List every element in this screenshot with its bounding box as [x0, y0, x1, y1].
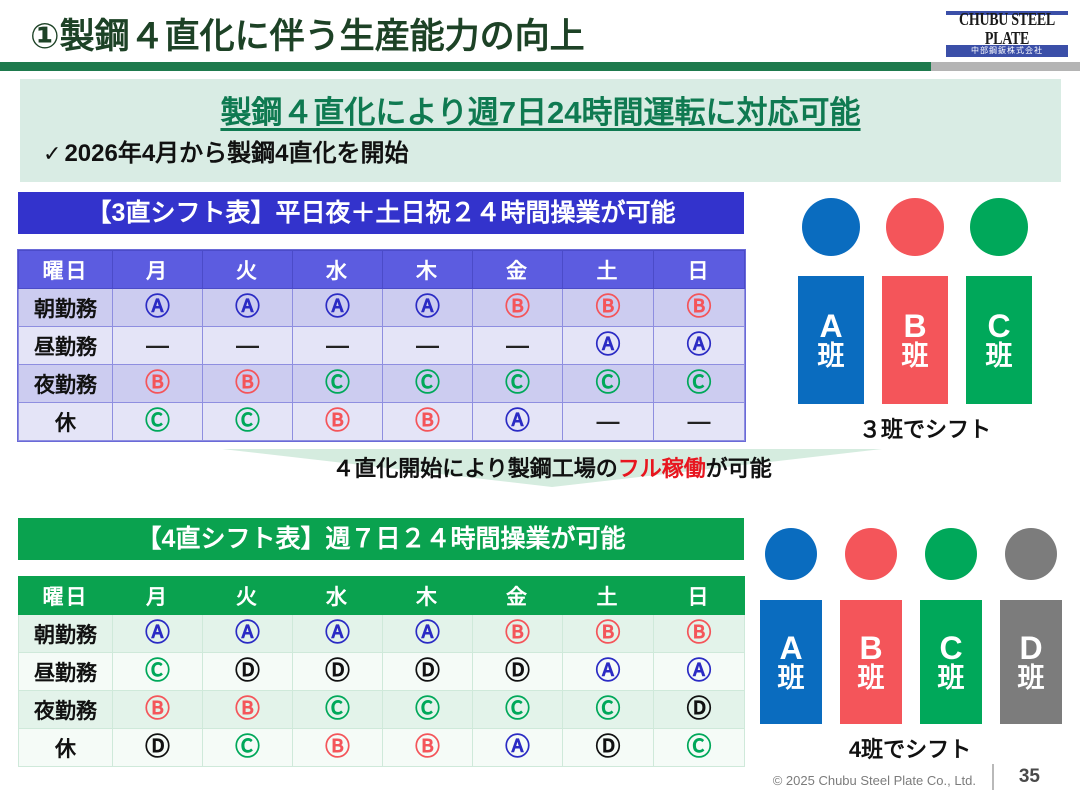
shift-cell: Ⓑ	[473, 289, 563, 327]
shift-marker-A: Ⓐ	[595, 657, 620, 685]
shift-marker-A: Ⓐ	[325, 619, 350, 647]
logo-name: CHUBU STEEL PLATE	[944, 11, 1070, 49]
shift-marker-A: Ⓐ	[505, 407, 530, 435]
shift-marker-B: Ⓑ	[686, 293, 711, 321]
row-label: 休	[19, 729, 113, 767]
shift-cell: Ⓒ	[383, 365, 473, 403]
team-dot-C	[925, 528, 977, 580]
shift-cell: Ⓑ	[654, 289, 745, 327]
chevron-caption: ４直化開始により製鋼工場のフル稼働が可能	[222, 451, 882, 483]
shift-marker-B: Ⓑ	[415, 733, 440, 761]
team-letter: A	[779, 632, 802, 665]
shift-marker-C: Ⓒ	[145, 657, 170, 685]
shift-marker-C: Ⓒ	[145, 407, 170, 435]
shift-marker-B: Ⓑ	[595, 619, 620, 647]
shift-marker-A: Ⓐ	[686, 657, 711, 685]
shift-cell: Ⓓ	[203, 653, 293, 691]
legend-caption: 4班でシフト	[760, 732, 1060, 764]
shift-marker-B: Ⓑ	[505, 619, 530, 647]
shift4-band-title: 【4直シフト表】週７日２４時間操業が可能	[18, 518, 744, 560]
shift-cell: Ⓒ	[473, 691, 563, 729]
shift-marker-C: Ⓒ	[595, 369, 620, 397]
shift-marker-B: Ⓑ	[145, 695, 170, 723]
footer-divider	[992, 764, 994, 790]
shift-cell: Ⓓ	[113, 729, 203, 767]
team-letter: C	[987, 310, 1010, 343]
shift-cell: Ⓐ	[383, 289, 473, 327]
table-row: 朝勤務ⒶⒶⒶⒶⒷⒷⒷ	[19, 289, 745, 327]
shift-cell: —	[113, 327, 203, 365]
footer-copyright: © 2025 Chubu Steel Plate Co., Ltd.	[773, 773, 976, 788]
shift-marker-B: Ⓑ	[325, 407, 350, 435]
check-icon: ✓	[43, 141, 61, 166]
shift-marker-B: Ⓑ	[325, 733, 350, 761]
shift-cell: —	[203, 327, 293, 365]
row-label: 休	[19, 403, 113, 441]
banner-headline: 製鋼４直化により週7日24時間運転に対応可能	[20, 87, 1061, 132]
shift-cell: Ⓒ	[383, 691, 473, 729]
shift-marker-C: Ⓒ	[325, 695, 350, 723]
banner-subtext-label: 2026年4月から製鋼4直化を開始	[64, 140, 408, 167]
team-unit-label: 班	[938, 665, 965, 693]
column-header-day-6: 土	[563, 577, 654, 615]
row-label: 朝勤務	[19, 615, 113, 653]
column-header-weekday: 曜日	[19, 577, 113, 615]
column-header-day-5: 金	[473, 251, 563, 289]
shift-cell: Ⓑ	[473, 615, 563, 653]
shift-marker-C: Ⓒ	[505, 369, 530, 397]
shift-marker-C: Ⓒ	[505, 695, 530, 723]
shift-cell: Ⓒ	[293, 691, 383, 729]
shift-marker-B: Ⓑ	[235, 695, 260, 723]
shift-cell: Ⓒ	[563, 365, 654, 403]
column-header-weekday: 曜日	[19, 251, 113, 289]
shift-cell: Ⓐ	[654, 327, 745, 365]
table-row: 休ⒹⒸⒷⒷⒶⒹⒸ	[19, 729, 745, 767]
shift-marker-A: Ⓐ	[325, 293, 350, 321]
shift-marker-C: Ⓒ	[595, 695, 620, 723]
shift-empty-marker: —	[506, 332, 529, 358]
shift-cell: Ⓑ	[383, 729, 473, 767]
page-title: ①製鋼４直化に伴う生産能力の向上	[30, 8, 585, 59]
shift-cell: Ⓒ	[654, 729, 745, 767]
shift-marker-D: Ⓓ	[686, 695, 711, 723]
shift-empty-marker: —	[688, 408, 711, 434]
shift-marker-D: Ⓓ	[145, 733, 170, 761]
banner-subtext: ✓2026年4月から製鋼4直化を開始	[43, 133, 409, 168]
shift-marker-A: Ⓐ	[415, 293, 440, 321]
team-unit-label: 班	[902, 343, 929, 371]
shift-cell: Ⓓ	[563, 729, 654, 767]
title-divider-green	[0, 62, 931, 71]
shift4-team-legend: A班B班C班D班4班でシフト	[760, 528, 1060, 764]
shift-cell: Ⓓ	[293, 653, 383, 691]
shift-cell: Ⓐ	[293, 289, 383, 327]
shift-cell: Ⓓ	[383, 653, 473, 691]
team-dot-D	[1005, 528, 1057, 580]
chevron-text-before: ４直化開始により製鋼工場の	[332, 456, 618, 481]
team-block-D: D班	[1000, 600, 1062, 724]
column-header-day-2: 火	[203, 251, 293, 289]
team-dot-A	[802, 198, 860, 256]
team-letter: D	[1019, 632, 1042, 665]
team-unit-label: 班	[778, 665, 805, 693]
shift-empty-marker: —	[146, 332, 169, 358]
table-row: 休ⒸⒸⒷⒷⒶ——	[19, 403, 745, 441]
shift3-band-title: 【3直シフト表】平日夜＋土日祝２４時間操業が可能	[18, 192, 744, 234]
shift-cell: Ⓐ	[654, 653, 745, 691]
team-block-B: B班	[840, 600, 902, 724]
team-letter: C	[939, 632, 962, 665]
shift-marker-B: Ⓑ	[415, 407, 440, 435]
team-letter: B	[903, 310, 926, 343]
shift-cell: —	[473, 327, 563, 365]
table-header-row: 曜日月火水木金土日	[19, 251, 745, 289]
table-row: 夜勤務ⒷⒷⒸⒸⒸⒸⒸ	[19, 365, 745, 403]
shift-marker-C: Ⓒ	[686, 733, 711, 761]
team-block-A: A班	[760, 600, 822, 724]
shift-cell: Ⓑ	[654, 615, 745, 653]
shift-cell: Ⓑ	[563, 615, 654, 653]
shift-marker-A: Ⓐ	[145, 293, 170, 321]
shift-marker-A: Ⓐ	[505, 733, 530, 761]
shift-cell: Ⓒ	[293, 365, 383, 403]
company-logo: CHUBU STEEL PLATE 中部鋼鈑株式会社	[944, 11, 1070, 57]
row-label: 夜勤務	[19, 691, 113, 729]
shift-cell: Ⓐ	[203, 289, 293, 327]
column-header-day-4: 木	[383, 577, 473, 615]
team-block-A: A班	[798, 276, 864, 404]
shift-marker-B: Ⓑ	[686, 619, 711, 647]
shift-marker-A: Ⓐ	[595, 331, 620, 359]
shift-cell: Ⓓ	[473, 653, 563, 691]
team-unit-label: 班	[986, 343, 1013, 371]
team-dot-B	[886, 198, 944, 256]
team-block-C: C班	[966, 276, 1032, 404]
shift-marker-A: Ⓐ	[235, 619, 260, 647]
table-row: 昼勤務—————ⒶⒶ	[19, 327, 745, 365]
shift-empty-marker: —	[326, 332, 349, 358]
shift-cell: Ⓐ	[113, 289, 203, 327]
shift-cell: Ⓑ	[203, 691, 293, 729]
shift-cell: Ⓓ	[654, 691, 745, 729]
column-header-day-7: 日	[654, 251, 745, 289]
team-letter: A	[819, 310, 842, 343]
table-header-row: 曜日月火水木金土日	[19, 577, 745, 615]
shift-cell: Ⓒ	[203, 729, 293, 767]
column-header-day-1: 月	[113, 577, 203, 615]
shift-marker-D: Ⓓ	[415, 657, 440, 685]
table-row: 夜勤務ⒷⒷⒸⒸⒸⒸⒹ	[19, 691, 745, 729]
team-dot-C	[970, 198, 1028, 256]
column-header-day-4: 木	[383, 251, 473, 289]
shift-cell: Ⓒ	[563, 691, 654, 729]
chevron-text-after: が可能	[706, 456, 772, 481]
page-number: 35	[1019, 766, 1040, 788]
shift-cell: Ⓑ	[113, 365, 203, 403]
shift-cell: Ⓑ	[293, 729, 383, 767]
shift-marker-D: Ⓓ	[235, 657, 260, 685]
shift-cell: Ⓒ	[113, 403, 203, 441]
team-unit-label: 班	[1018, 665, 1045, 693]
shift-cell: Ⓑ	[293, 403, 383, 441]
shift-cell: —	[383, 327, 473, 365]
shift3-team-legend: A班B班C班３班でシフト	[798, 198, 1052, 444]
team-letter: B	[859, 632, 882, 665]
shift-cell: Ⓐ	[203, 615, 293, 653]
shift-marker-B: Ⓑ	[235, 369, 260, 397]
shift-cell: Ⓒ	[113, 653, 203, 691]
column-header-day-3: 水	[293, 251, 383, 289]
shift-marker-A: Ⓐ	[145, 619, 170, 647]
team-dot-B	[845, 528, 897, 580]
shift-cell: —	[654, 403, 745, 441]
shift-marker-D: Ⓓ	[505, 657, 530, 685]
column-header-day-6: 土	[563, 251, 654, 289]
shift-cell: Ⓐ	[563, 327, 654, 365]
shift-marker-B: Ⓑ	[595, 293, 620, 321]
shift-cell: Ⓐ	[563, 653, 654, 691]
table-row: 朝勤務ⒶⒶⒶⒶⒷⒷⒷ	[19, 615, 745, 653]
shift-cell: Ⓑ	[203, 365, 293, 403]
shift-marker-C: Ⓒ	[325, 369, 350, 397]
shift-cell: Ⓑ	[113, 691, 203, 729]
shift-marker-D: Ⓓ	[325, 657, 350, 685]
shift-empty-marker: —	[236, 332, 259, 358]
row-label: 昼勤務	[19, 327, 113, 365]
shift-marker-D: Ⓓ	[595, 733, 620, 761]
shift-cell: Ⓒ	[654, 365, 745, 403]
team-block-B: B班	[882, 276, 948, 404]
shift-cell: Ⓑ	[563, 289, 654, 327]
shift-marker-A: Ⓐ	[415, 619, 440, 647]
shift-marker-C: Ⓒ	[415, 369, 440, 397]
shift-cell: Ⓒ	[203, 403, 293, 441]
row-label: 朝勤務	[19, 289, 113, 327]
shift-marker-B: Ⓑ	[145, 369, 170, 397]
shift-marker-C: Ⓒ	[415, 695, 440, 723]
team-unit-label: 班	[858, 665, 885, 693]
column-header-day-7: 日	[654, 577, 745, 615]
shift-cell: Ⓐ	[473, 729, 563, 767]
shift-cell: Ⓐ	[383, 615, 473, 653]
team-unit-label: 班	[818, 343, 845, 371]
team-block-C: C班	[920, 600, 982, 724]
shift-marker-B: Ⓑ	[505, 293, 530, 321]
row-label: 夜勤務	[19, 365, 113, 403]
column-header-day-3: 水	[293, 577, 383, 615]
shift-cell: Ⓑ	[383, 403, 473, 441]
shift-cell: —	[563, 403, 654, 441]
shift-marker-A: Ⓐ	[235, 293, 260, 321]
team-dot-A	[765, 528, 817, 580]
shift-empty-marker: —	[416, 332, 439, 358]
shift-cell: Ⓐ	[113, 615, 203, 653]
shift-marker-C: Ⓒ	[235, 733, 260, 761]
legend-caption: ３班でシフト	[798, 412, 1052, 444]
table-row: 昼勤務ⒸⒹⒹⒹⒹⒶⒶ	[19, 653, 745, 691]
shift4-table: 曜日月火水木金土日 朝勤務ⒶⒶⒶⒶⒷⒷⒷ昼勤務ⒸⒹⒹⒹⒹⒶⒶ夜勤務ⒷⒷⒸⒸⒸⒸⒹ…	[18, 576, 745, 767]
column-header-day-1: 月	[113, 251, 203, 289]
shift3-table: 曜日月火水木金土日 朝勤務ⒶⒶⒶⒶⒷⒷⒷ昼勤務—————ⒶⒶ夜勤務ⒷⒷⒸⒸⒸⒸⒸ…	[18, 250, 745, 441]
shift-cell: Ⓐ	[473, 403, 563, 441]
shift-marker-C: Ⓒ	[686, 369, 711, 397]
column-header-day-5: 金	[473, 577, 563, 615]
shift-empty-marker: —	[597, 408, 620, 434]
chevron-text-highlight: フル稼働	[618, 456, 706, 481]
shift-marker-C: Ⓒ	[235, 407, 260, 435]
shift-cell: Ⓐ	[293, 615, 383, 653]
column-header-day-2: 火	[203, 577, 293, 615]
shift-cell: —	[293, 327, 383, 365]
shift-cell: Ⓒ	[473, 365, 563, 403]
row-label: 昼勤務	[19, 653, 113, 691]
shift-marker-A: Ⓐ	[686, 331, 711, 359]
